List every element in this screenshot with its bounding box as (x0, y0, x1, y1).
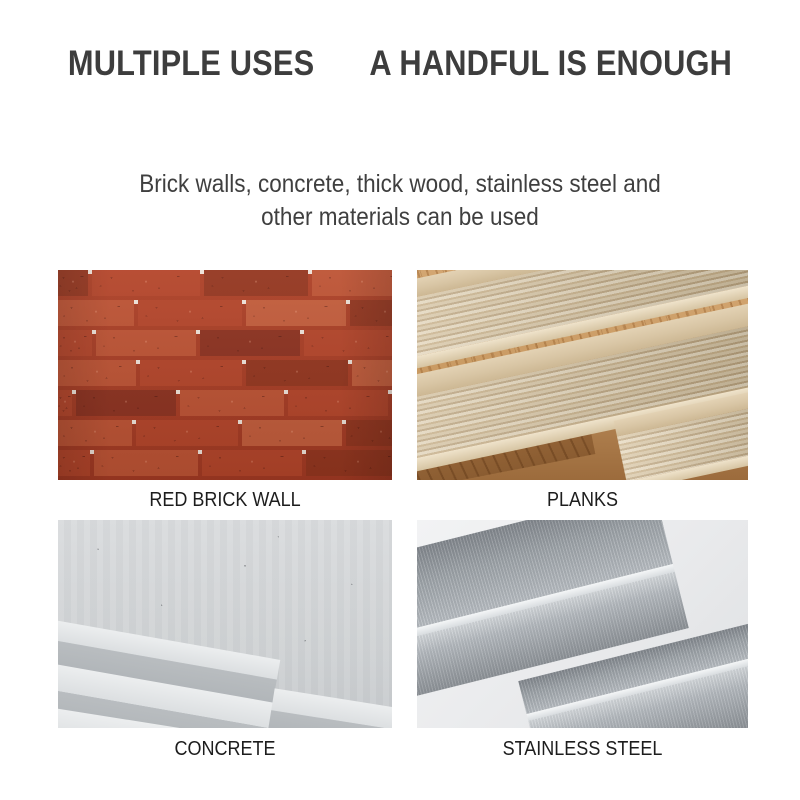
headline-part-1: MULTIPLE USES (68, 44, 314, 83)
photo-planks (417, 270, 748, 480)
caption-planks: PLANKS (434, 489, 732, 512)
divider-pill (292, 125, 505, 141)
caption-red-brick-wall: RED BRICK WALL (75, 489, 376, 512)
page-subtitle: Brick walls, concrete, thick wood, stain… (40, 168, 760, 234)
brick-wall-texture (58, 270, 392, 480)
subtitle-line-1: Brick walls, concrete, thick wood, stain… (40, 168, 760, 201)
plywood-texture (417, 270, 748, 480)
subtitle-line-2: other materials can be used (40, 201, 760, 234)
headline-part-2: A HANDFUL IS ENOUGH (369, 44, 732, 83)
photo-concrete (58, 520, 392, 728)
concrete-step-4 (265, 688, 392, 728)
caption-concrete: CONCRETE (75, 738, 376, 761)
photo-stainless-steel (417, 520, 748, 728)
page-headline: MULTIPLE USES A HANDFUL IS ENOUGH (48, 44, 752, 84)
caption-stainless-steel: STAINLESS STEEL (434, 738, 732, 761)
steel-background (417, 520, 748, 728)
photo-red-brick-wall (58, 270, 392, 480)
concrete-wall-texture (58, 520, 392, 728)
